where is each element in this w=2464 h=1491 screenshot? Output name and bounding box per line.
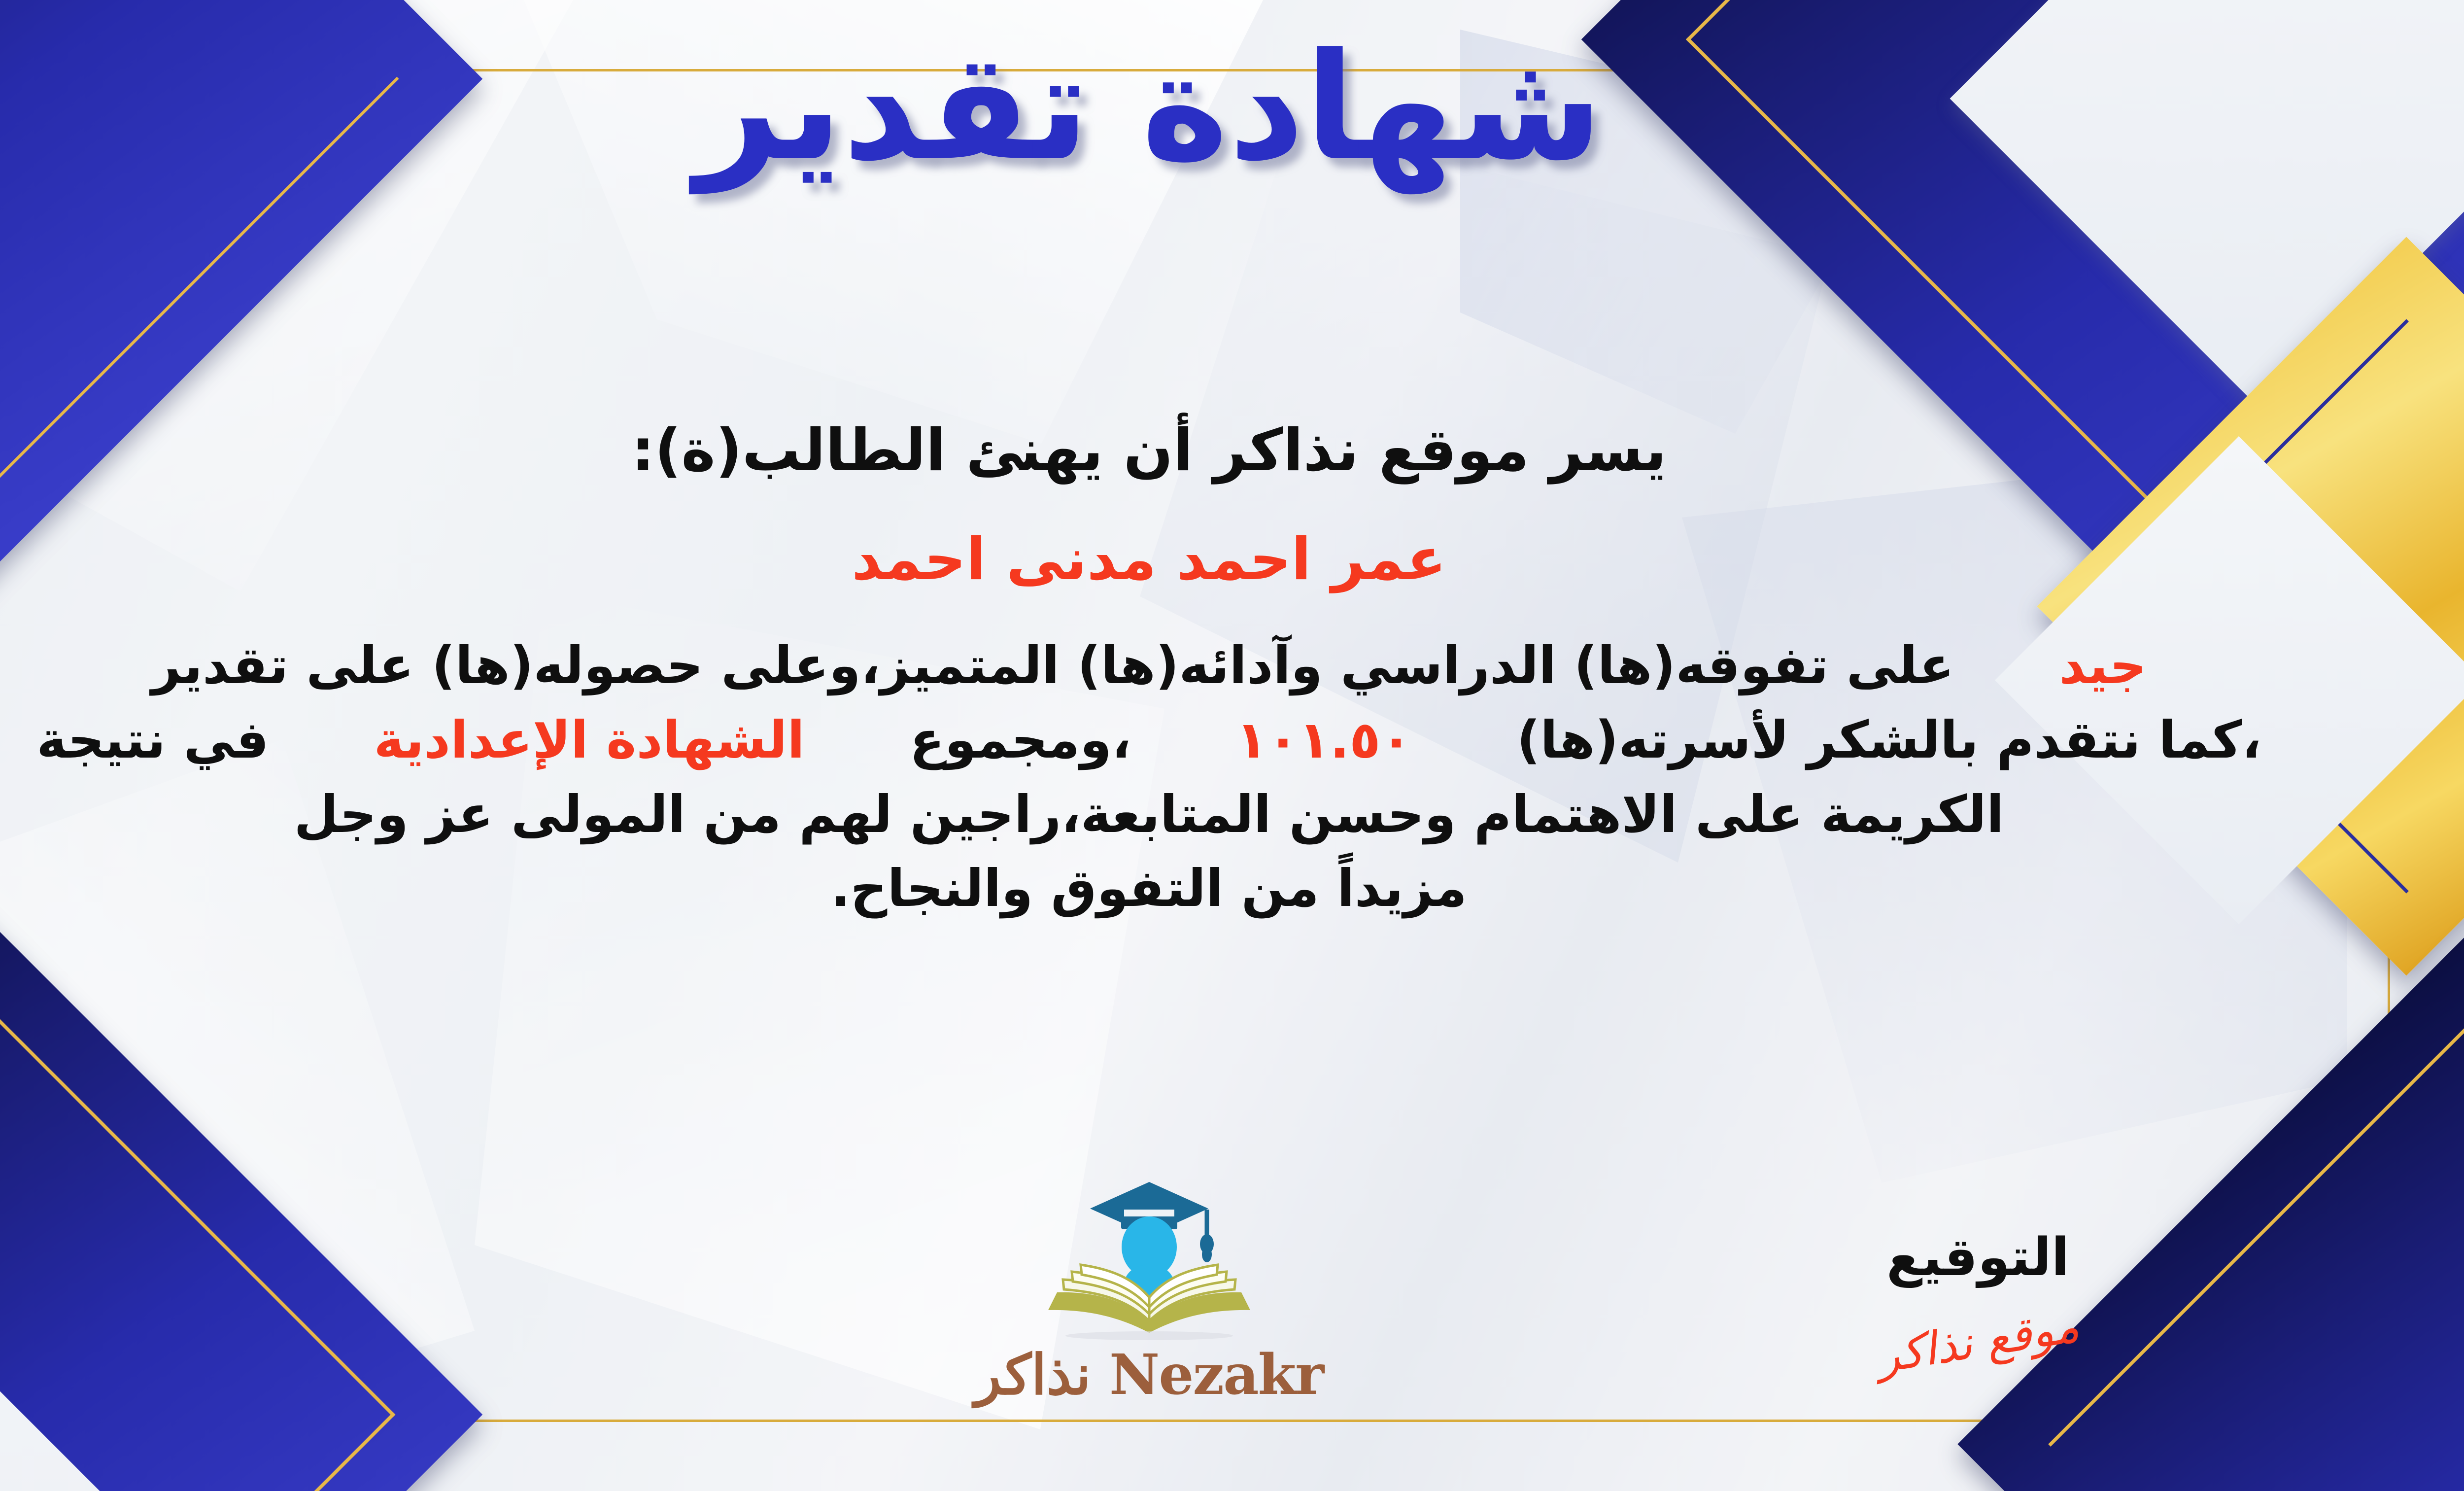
- congratulation-lead: يسر موقع نذاكر أن يهنئ الطالب(ة):: [0, 414, 2375, 487]
- grade-value: جيد: [2059, 635, 2146, 695]
- signature-block: التوقيع موقع نذاكر: [1876, 1227, 2080, 1368]
- brand-wordmark: Nezakr نذاكر: [962, 1343, 1336, 1407]
- signature-label: التوقيع: [1876, 1227, 2080, 1287]
- total-score-value: ١٠١.٥٠: [1236, 710, 1412, 770]
- graduate-book-icon: [962, 1178, 1336, 1341]
- student-name: عمر احمد مدنى احمد: [0, 524, 2375, 594]
- exam-name-value: الشهادة الإعدادية: [374, 710, 805, 770]
- paragraph-line-2: ،كما نتقدم بالشكر لأسرته(ها) ١٠١.٥٠ ،ومج…: [0, 703, 2375, 777]
- paragraph-line-4: مزيداً من التفوق والنجاح.: [0, 851, 2375, 926]
- certificate-paragraph: جيد على تفوقه(ها) الدراسي وآدائه(ها) الم…: [0, 628, 2375, 926]
- certificate-body: يسر موقع نذاكر أن يهنئ الطالب(ة): عمر اح…: [0, 414, 2375, 926]
- paragraph-line-1: جيد على تفوقه(ها) الدراسي وآدائه(ها) الم…: [0, 628, 2375, 703]
- page-title: شهادة تقدير: [0, 30, 2464, 185]
- paragraph-line-2-mid: ،ومجموع: [910, 710, 1131, 770]
- paragraph-line-2-prefix: في نتيجة: [36, 710, 269, 770]
- paragraph-line-1-text: على تفوقه(ها) الدراسي وآدائه(ها) المتميز…: [151, 635, 1954, 695]
- brand-logo: Nezakr نذاكر: [962, 1178, 1336, 1407]
- certificate-canvas: شهادة تقدير يسر موقع نذاكر أن يهنئ الطال…: [0, 0, 2464, 1491]
- paragraph-line-2-suffix: ،كما نتقدم بالشكر لأسرته(ها): [1517, 710, 2261, 770]
- paragraph-line-3: الكريمة على الاهتمام وحسن المتابعة،راجين…: [0, 777, 2375, 852]
